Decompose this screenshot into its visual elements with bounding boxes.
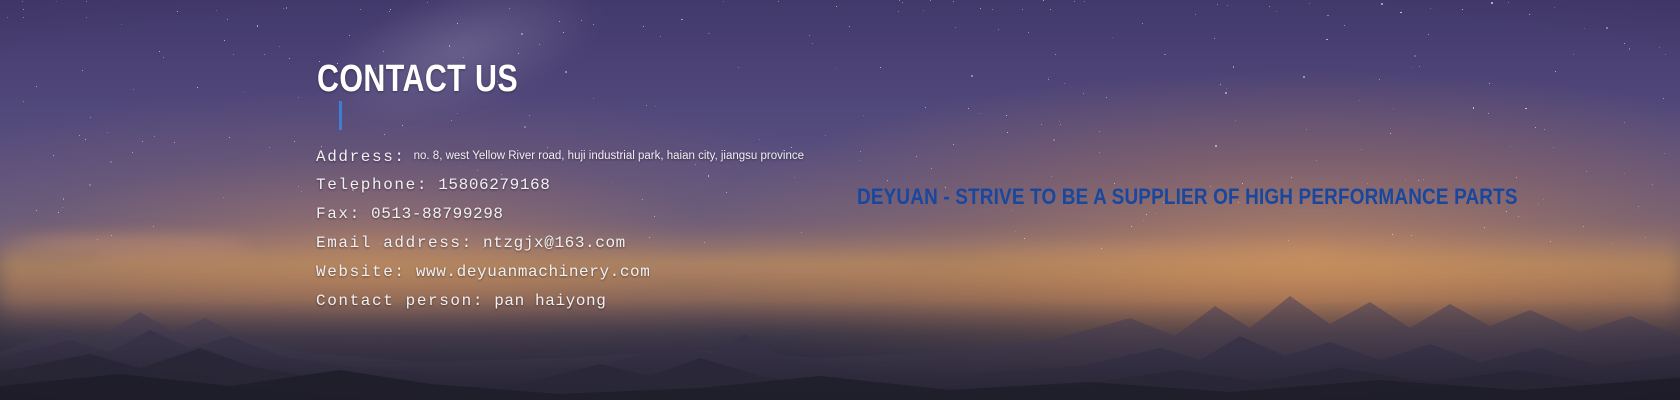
contact-row-email: Email address: ntzgjx@163.com	[316, 229, 804, 258]
telephone-label: Telephone:	[316, 176, 428, 194]
email-label: Email address:	[316, 234, 473, 252]
contact-row-telephone: Telephone: 15806279168	[316, 171, 804, 200]
address-value: no. 8, west Yellow River road, huji indu…	[414, 150, 804, 162]
address-label: Address:	[316, 148, 406, 166]
fax-value: 0513-88799298	[371, 205, 504, 223]
contact-row-person: Contact person: pan haiyong	[316, 287, 804, 316]
banner-content: CONTACT US Address:no. 8, west Yellow Ri…	[0, 0, 1680, 400]
email-value[interactable]: ntzgjx@163.com	[483, 234, 626, 252]
telephone-value[interactable]: 15806279168	[438, 176, 550, 194]
contact-banner: CONTACT US Address:no. 8, west Yellow Ri…	[0, 0, 1680, 400]
contact-person-value: pan haiyong	[494, 292, 606, 310]
company-tagline: DEYUAN - STRIVE TO BE A SUPPLIER OF HIGH…	[857, 183, 1518, 211]
contact-details-list: Address:no. 8, west Yellow River road, h…	[316, 142, 804, 316]
contact-row-fax: Fax: 0513-88799298	[316, 200, 804, 229]
website-value[interactable]: www.deyuanmachinery.com	[416, 263, 651, 281]
page-title: CONTACT US	[317, 57, 518, 101]
contact-row-website: Website: www.deyuanmachinery.com	[316, 258, 804, 287]
contact-row-address: Address:no. 8, west Yellow River road, h…	[316, 142, 804, 171]
fax-label: Fax:	[316, 205, 361, 223]
title-accent-bar	[339, 101, 342, 130]
website-label: Website:	[316, 263, 406, 281]
contact-person-label: Contact person:	[316, 292, 484, 310]
